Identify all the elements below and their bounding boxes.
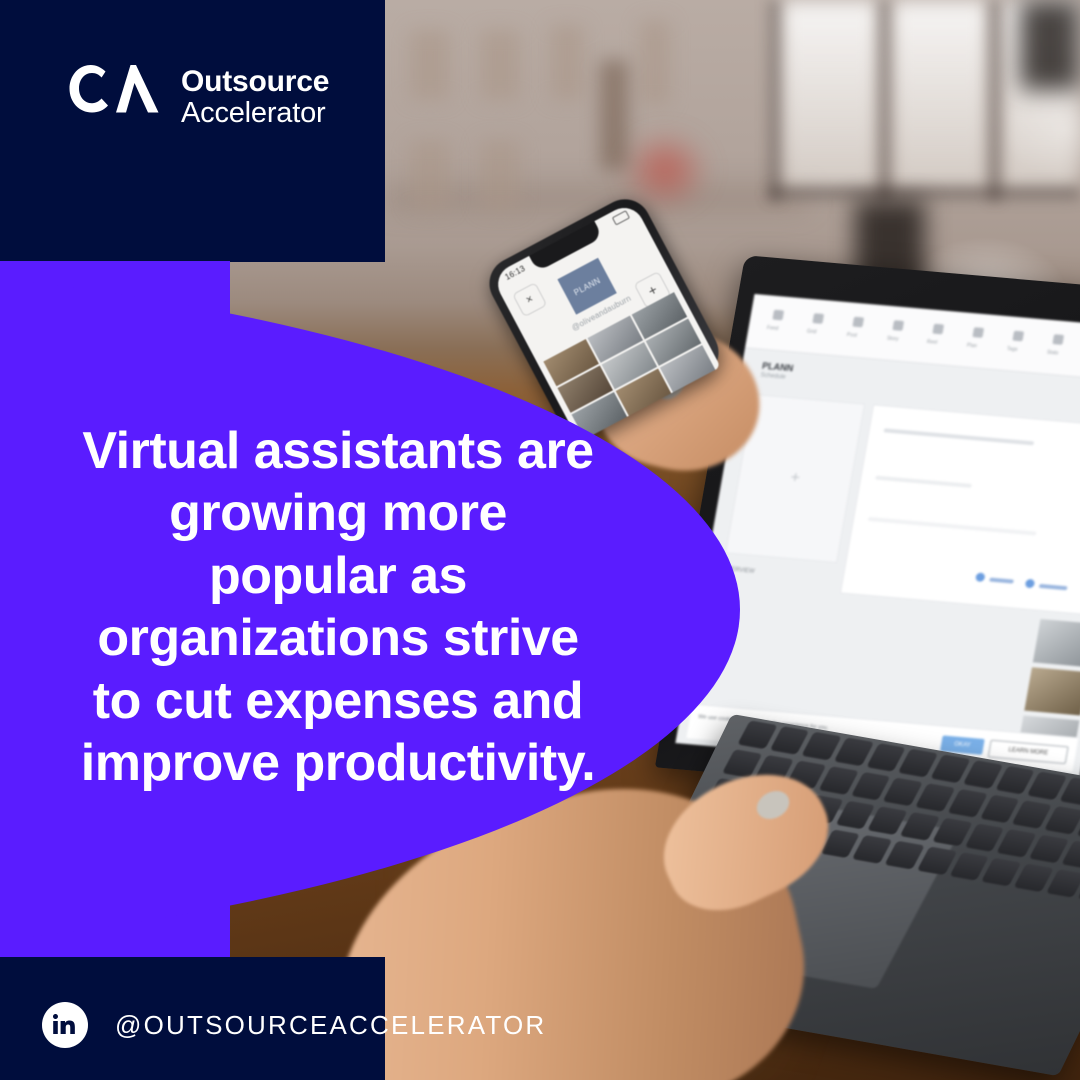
window-sill — [770, 188, 1080, 198]
window-mullion — [770, 0, 779, 200]
toolbar-label: Reel — [926, 339, 937, 346]
thumbnail — [1024, 667, 1080, 715]
linkedin-glyph — [53, 1013, 77, 1037]
window-mullion — [990, 0, 999, 200]
toolbar-label: Grid — [806, 329, 816, 336]
toolbar-label: Story — [886, 336, 899, 343]
blurred-jar — [480, 30, 520, 100]
plus-icon: + — [789, 469, 801, 488]
toolbar-label: Feed — [766, 325, 778, 332]
screen-app-title: PLANN — [761, 361, 794, 374]
action-dot — [1025, 579, 1036, 589]
blurred-bottle — [600, 60, 628, 170]
blurred-jar — [480, 140, 520, 210]
blurred-jar — [550, 25, 584, 100]
window-pane — [780, 0, 880, 190]
blurred-jar — [410, 140, 450, 210]
footer-social[interactable]: @OUTSOURCEACCELERATOR — [42, 1002, 546, 1048]
dark-frame — [1020, 0, 1080, 90]
blurred-jar — [410, 30, 450, 100]
window-pane — [890, 0, 990, 190]
battery-icon — [612, 210, 630, 225]
headline-text: Virtual assistants are growing more popu… — [28, 420, 648, 794]
close-icon: × — [512, 282, 547, 317]
outsource-accelerator-monogram-icon — [68, 62, 164, 132]
brand-logo[interactable]: Outsource Accelerator — [68, 62, 329, 132]
social-handle[interactable]: @OUTSOURCEACCELERATOR — [115, 1010, 546, 1041]
brand-name-line-1: Outsource — [181, 66, 329, 97]
social-card-canvas: Feed Grid Post Story Reel Plan Tags Stat… — [0, 0, 1080, 1080]
brand-wordmark: Outsource Accelerator — [181, 66, 329, 127]
linkedin-icon[interactable] — [42, 1002, 88, 1048]
blurred-jar — [640, 20, 670, 105]
toolbar-label: Stats — [1046, 350, 1058, 357]
screen-app-subtitle: Schedule — [760, 373, 786, 381]
side-list-item: OVERVIEW — [722, 566, 843, 582]
action-dot — [975, 572, 986, 582]
brand-name-line-2: Accelerator — [181, 98, 329, 128]
toolbar-label: Post — [846, 332, 857, 339]
toolbar-label: Tags — [1006, 346, 1018, 353]
toolbar-label: Plan — [966, 343, 977, 350]
compose-card — [840, 404, 1080, 615]
window-mullion — [880, 0, 889, 200]
phone-status-time: 16:13 — [504, 264, 527, 282]
thumbnail — [1033, 619, 1080, 667]
